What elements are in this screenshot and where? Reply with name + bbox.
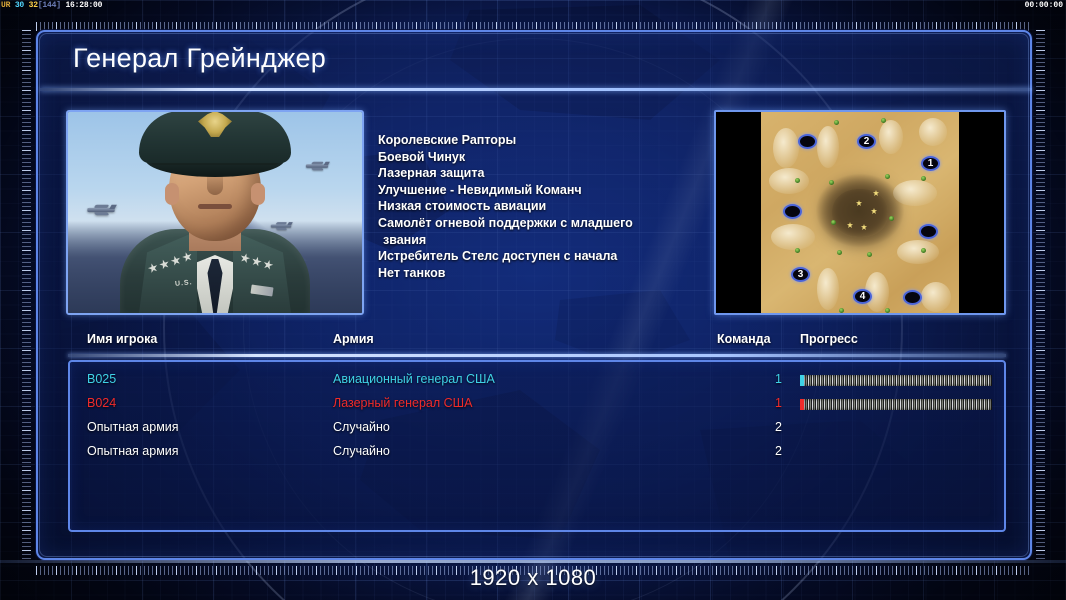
mouth (198, 204, 232, 209)
map-terrain: 2 1 3 4 (761, 112, 959, 313)
map-center-crater (832, 189, 888, 237)
map-start-position-1[interactable]: 1 (921, 156, 940, 171)
map-marker-blank[interactable] (919, 224, 938, 239)
terrain-patch (771, 224, 815, 250)
terrain-patch (893, 180, 937, 206)
map-marker-blank[interactable] (798, 134, 817, 149)
tree-icon (795, 248, 800, 253)
lobby-panel: Генерал Грейнджер (36, 30, 1032, 560)
status-clock-right: 00:00:00 (1025, 0, 1063, 11)
tree-icon (837, 250, 842, 255)
table-row[interactable]: Опытная армия Случайно 2 (70, 440, 1004, 464)
terrain-patch (769, 168, 809, 194)
footer-divider (0, 560, 1066, 563)
status-tag: UR (1, 1, 10, 10)
general-info-section: U.S. (66, 110, 1006, 315)
tree-icon (831, 220, 836, 225)
tree-icon (867, 252, 872, 257)
terrain-patch (817, 126, 839, 168)
table-header-divider (68, 354, 1006, 357)
player-name: Опытная армия (87, 444, 179, 458)
tree-icon (881, 118, 886, 123)
feature-item: Низкая стоимость авиации (378, 198, 698, 215)
feature-item: Истребитель Стелс доступен с начала (378, 248, 698, 265)
column-header-team: Команда (717, 332, 771, 346)
map-preview[interactable]: 2 1 3 4 (714, 110, 1006, 315)
status-clock-left: 16:28:00 (65, 1, 102, 10)
player-progress-bar (800, 375, 992, 386)
terrain-patch (817, 268, 839, 310)
ear-left (165, 183, 179, 205)
column-header-army: Армия (333, 332, 374, 346)
table-row[interactable]: Опытная армия Случайно 2 (70, 416, 1004, 440)
status-num2: 32 (29, 1, 38, 10)
tree-icon (921, 176, 926, 181)
map-start-position-2[interactable]: 2 (857, 134, 876, 149)
terrain-patch (773, 128, 799, 168)
general-feature-list: Королевские Рапторы Боевой Чинук Лазерна… (378, 132, 698, 281)
tree-icon (921, 248, 926, 253)
title-divider (40, 88, 1032, 91)
feature-item-continuation: звания (378, 232, 698, 249)
player-team[interactable]: 2 (746, 444, 782, 458)
player-team[interactable]: 1 (746, 396, 782, 410)
general-figure: U.S. (117, 127, 313, 313)
title-bar: Генерал Грейнджер (38, 32, 1030, 88)
tree-icon (829, 180, 834, 185)
map-start-position-4[interactable]: 4 (853, 289, 872, 304)
feature-item: Боевой Чинук (378, 149, 698, 166)
column-header-progress: Прогресс (800, 332, 858, 346)
status-num1: 30 (15, 1, 24, 10)
tree-icon (885, 308, 890, 313)
map-marker-blank[interactable] (783, 204, 802, 219)
player-progress-bar (800, 399, 992, 410)
status-bar: UR 30 32[144] 16:28:00 00:00:00 (0, 0, 1066, 11)
feature-item: Улучшение - Невидимый Команч (378, 182, 698, 199)
player-name: B024 (87, 396, 116, 410)
map-marker-blank[interactable] (903, 290, 922, 305)
terrain-patch (921, 282, 951, 312)
feature-item: Королевские Рапторы (378, 132, 698, 149)
player-list: B025 Авиационный генерал США 1 B024 Лазе… (68, 360, 1006, 532)
app-root: UR 30 32[144] 16:28:00 00:00:00 Генерал … (0, 0, 1066, 600)
page-title: Генерал Грейнджер (73, 43, 326, 74)
general-portrait: U.S. (66, 110, 364, 315)
player-name: B025 (87, 372, 116, 386)
player-army[interactable]: Случайно (333, 420, 390, 434)
status-left-group: UR 30 32[144] 16:28:00 (1, 0, 102, 11)
progress-fill (804, 375, 992, 386)
tree-icon (839, 308, 844, 313)
tree-icon (885, 174, 890, 179)
terrain-patch (897, 240, 939, 264)
column-header-name: Имя игрока (87, 332, 157, 346)
player-team[interactable]: 2 (746, 420, 782, 434)
status-bracket: [144] (38, 1, 61, 10)
feature-item: Нет танков (378, 265, 698, 282)
progress-track (800, 375, 992, 386)
player-army[interactable]: Случайно (333, 444, 390, 458)
tree-icon (834, 120, 839, 125)
progress-track (800, 399, 992, 410)
player-army[interactable]: Авиационный генерал США (333, 372, 495, 386)
terrain-patch (919, 118, 947, 146)
progress-fill (804, 399, 992, 410)
feature-item: Лазерная защита (378, 165, 698, 182)
player-team[interactable]: 1 (746, 372, 782, 386)
terrain-patch (879, 120, 903, 154)
tree-icon (795, 178, 800, 183)
player-table-header: Имя игрока Армия Команда Прогресс (38, 332, 1030, 354)
resolution-label: 1920 x 1080 (0, 565, 1066, 591)
table-row[interactable]: B025 Авиационный генерал США 1 (70, 368, 1004, 392)
table-row[interactable]: B024 Лазерный генерал США 1 (70, 392, 1004, 416)
player-army[interactable]: Лазерный генерал США (333, 396, 472, 410)
tree-icon (889, 216, 894, 221)
ear-right (251, 183, 265, 205)
map-start-position-3[interactable]: 3 (791, 267, 810, 282)
jet-icon (87, 208, 114, 212)
player-name: Опытная армия (87, 420, 179, 434)
feature-item: Самолёт огневой поддержки с младшего (378, 215, 698, 232)
